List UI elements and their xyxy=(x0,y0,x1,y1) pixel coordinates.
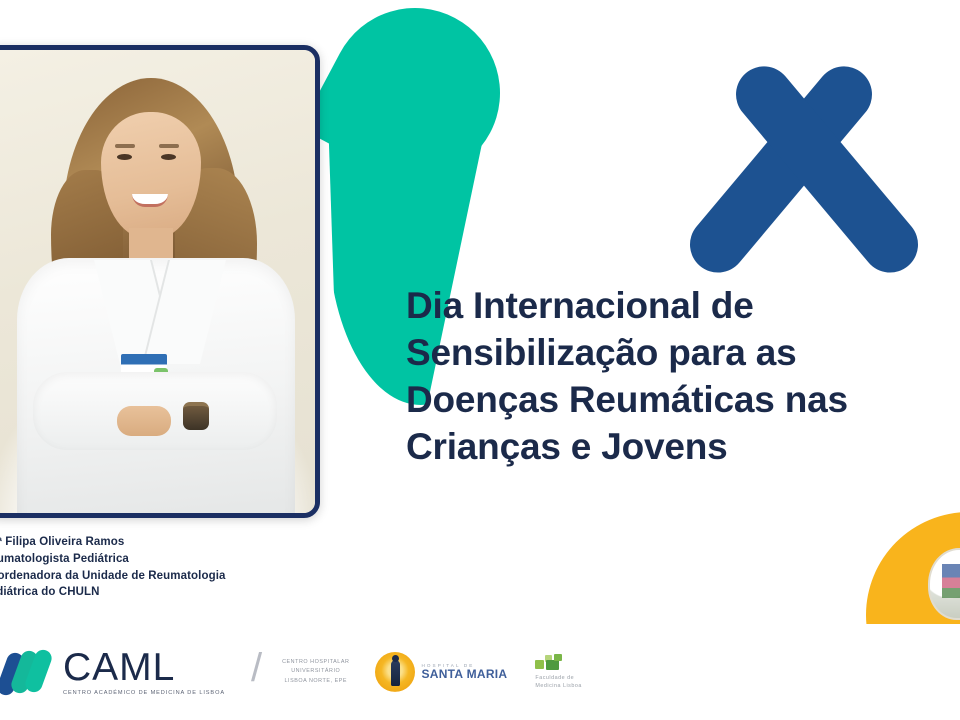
speaker-photo xyxy=(0,50,315,513)
chuln-logo: CENTRO HOSPITALAR UNIVERSITÁRIO LISBOA N… xyxy=(282,658,349,687)
santa-maria-logo: HOSPITAL DE SANTA MARIA xyxy=(375,652,507,692)
caml-text-block: CAML CENTRO ACADÉMICO DE MEDICINA DE LIS… xyxy=(63,648,225,697)
photo-eyebrow-left xyxy=(115,144,135,148)
green-logo-text: Faculdade de Medicina Lisboa xyxy=(535,674,581,691)
santa-maria-figure-icon xyxy=(391,660,400,686)
santa-maria-name: SANTA MARIA xyxy=(421,668,507,681)
caml-tagline: CENTRO ACADÉMICO DE MEDICINA DE LISBOA xyxy=(63,691,225,697)
caml-mark-icon xyxy=(8,650,54,694)
caml-logo: CAML CENTRO ACADÉMICO DE MEDICINA DE LIS… xyxy=(8,648,225,697)
green-logo-line-2: Medicina Lisboa xyxy=(535,682,581,690)
chuln-line-2: UNIVERSITÁRIO xyxy=(282,667,349,677)
faculty-green-logo: Faculdade de Medicina Lisboa xyxy=(535,654,581,691)
green-block-d xyxy=(554,654,562,661)
logo-separator: / xyxy=(251,646,262,691)
photo-face xyxy=(101,112,201,238)
chuln-line-3: LISBOA NORTE, EPE xyxy=(282,677,349,687)
poster-headline: Dia Internacional de Sensibilização para… xyxy=(406,283,960,471)
headline-line-4: Crianças e Jovens xyxy=(406,424,960,471)
santa-maria-text-block: HOSPITAL DE SANTA MARIA xyxy=(421,663,507,681)
speaker-role: Reumatologista Pediátrica xyxy=(0,551,334,568)
santa-maria-sun-icon xyxy=(375,652,415,692)
photo-eyebrow-right xyxy=(159,144,179,148)
chuln-line-1: CENTRO HOSPITALAR xyxy=(282,658,349,668)
logo-bar: CAML CENTRO ACADÉMICO DE MEDICINA DE LIS… xyxy=(0,624,960,720)
green-blocks-icon xyxy=(535,654,565,671)
poster-canvas: Dr.ª Filipa Oliveira Ramos Reumatologist… xyxy=(0,0,960,720)
photo-hand xyxy=(117,406,171,436)
speaker-caption: Dr.ª Filipa Oliveira Ramos Reumatologist… xyxy=(0,534,334,601)
speaker-photo-card xyxy=(0,45,320,518)
photo-wristwatch xyxy=(183,402,209,430)
photo-eye-right xyxy=(161,154,176,160)
speaker-name: Dr.ª Filipa Oliveira Ramos xyxy=(0,534,334,551)
speaker-position-line2: Pediátrica do CHULN xyxy=(0,584,334,601)
speaker-position-line1: Coordenadora da Unidade de Reumatologia xyxy=(0,568,334,585)
green-logo-line-1: Faculdade de xyxy=(535,674,581,682)
photo-eye-left xyxy=(117,154,132,160)
caml-wordmark: CAML xyxy=(63,648,225,687)
headline-line-2: Sensibilização para as xyxy=(406,330,960,377)
headline-line-1: Dia Internacional de xyxy=(406,283,960,330)
green-block-a xyxy=(535,660,544,669)
headline-line-3: Doenças Reumáticas nas xyxy=(406,377,960,424)
green-block-c xyxy=(546,660,559,670)
